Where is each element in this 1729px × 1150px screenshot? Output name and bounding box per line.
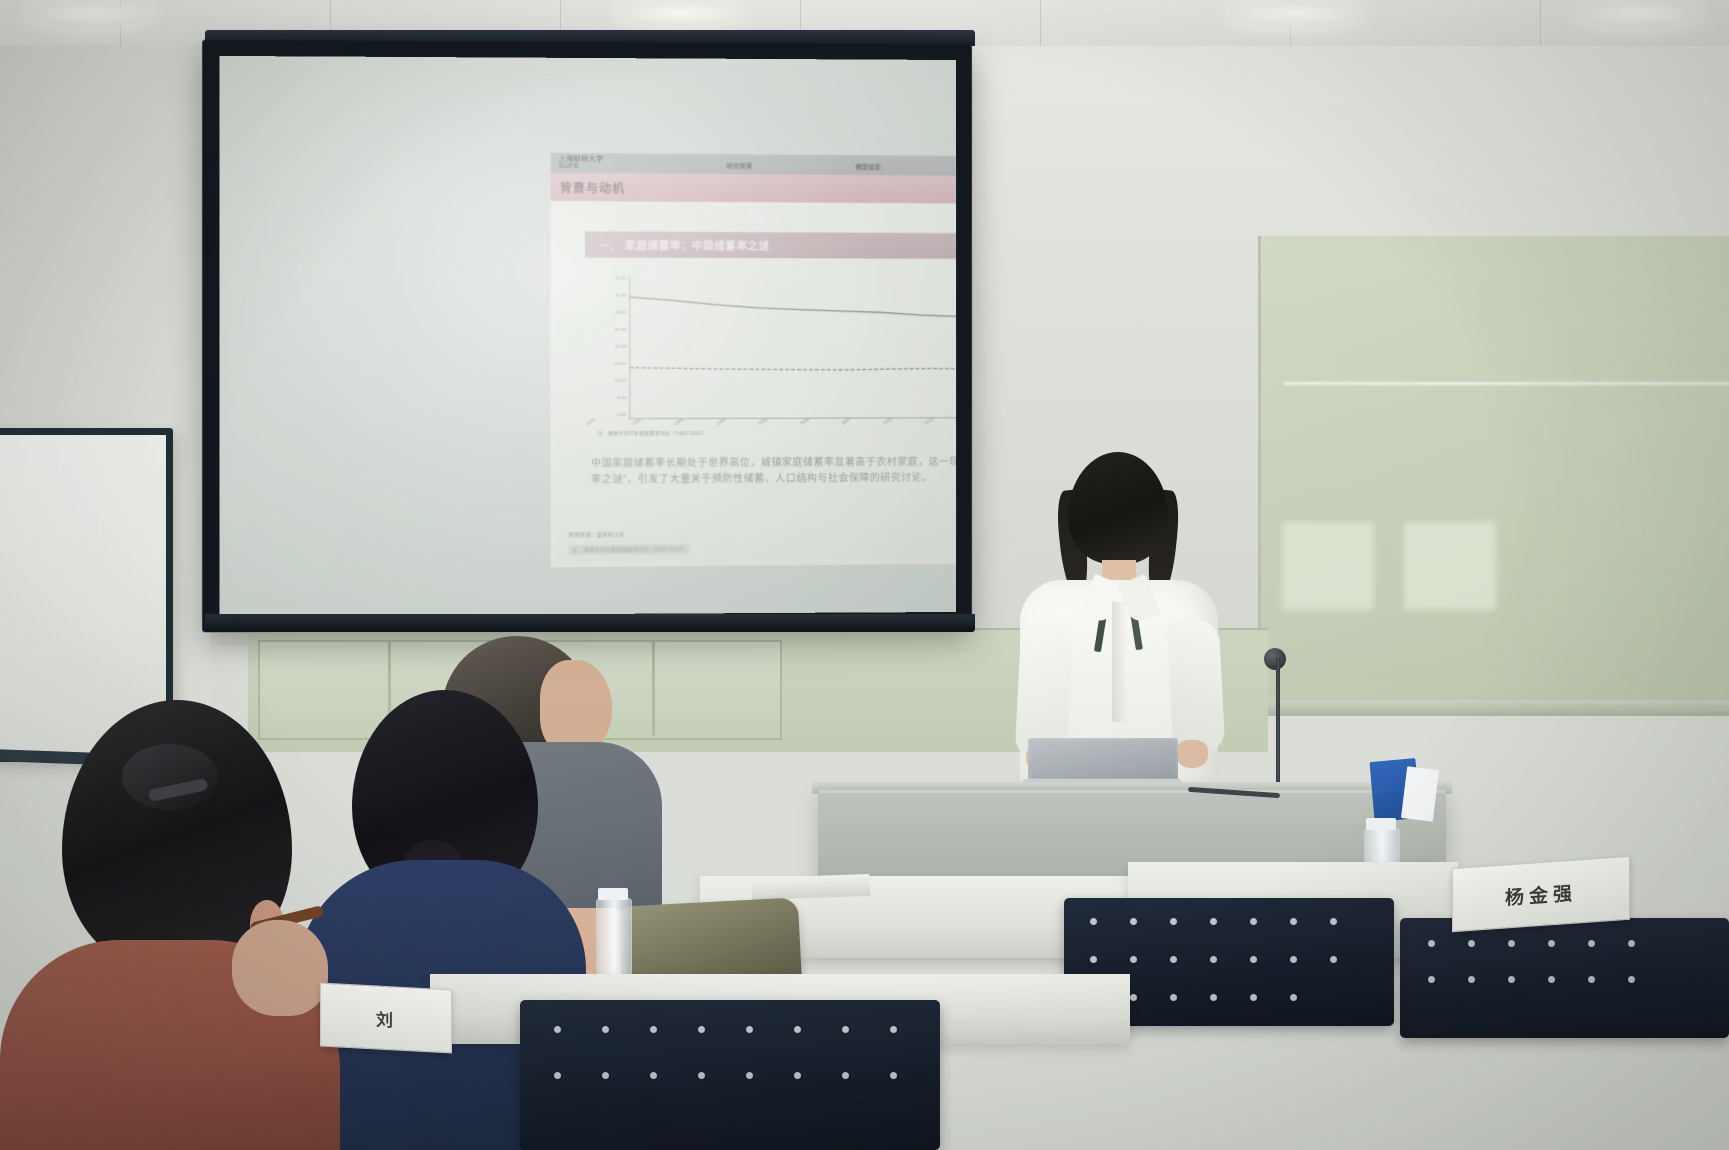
window-mullion bbox=[652, 640, 655, 736]
water-bottle-cap bbox=[1366, 818, 1396, 830]
slide-section-text: 家庭储蓄率：中国储蓄率之谜 bbox=[625, 237, 769, 253]
slide-nav-item-0: 研究背景 bbox=[726, 160, 752, 170]
slide-paragraph: 中国家庭储蓄率长期处于世界高位，城镇家庭储蓄率显著高于农村家庭，这一现象被称为“… bbox=[591, 454, 956, 487]
ceiling-light bbox=[1580, 4, 1700, 26]
presenter-shirt-placket bbox=[1112, 602, 1126, 722]
nameplate-left-text: 刘 bbox=[376, 1005, 396, 1031]
chart-caption: 注：城镇与农村家庭储蓄率对比（1992-2022） bbox=[597, 429, 956, 438]
projection-screen-surface: 上海财经大学 SUFE 研究背景 模型设定 实证结果与分析 背景与动机 一、 家… bbox=[219, 56, 956, 616]
slide-title: 背景与动机 bbox=[560, 178, 626, 196]
microphone-head bbox=[1264, 648, 1286, 670]
presenter-arm-right bbox=[1167, 619, 1226, 754]
audience-member-hair-bun bbox=[122, 744, 218, 810]
screen-bottom-bar bbox=[205, 614, 975, 632]
chart-plot-area bbox=[585, 276, 956, 425]
presenter-hand-right bbox=[1176, 740, 1208, 768]
chair-back bbox=[1400, 918, 1729, 1038]
chalkboard-smudge bbox=[1404, 522, 1496, 610]
slide-section-number: 一、 bbox=[599, 237, 619, 252]
ceiling-light bbox=[620, 4, 740, 26]
book-on-desk bbox=[752, 874, 871, 900]
chalkboard-smudge bbox=[1282, 522, 1374, 610]
ceiling-light bbox=[1230, 4, 1360, 26]
slide-body: 一、 家庭储蓄率：中国储蓄率之谜 40.00 35.00 30.00 25.00… bbox=[557, 203, 957, 561]
ceiling-light bbox=[30, 4, 150, 26]
water-bottle bbox=[596, 898, 632, 978]
slide-footer-note: 注：城镇与农村家庭储蓄率对比（1992-2022） bbox=[569, 544, 690, 555]
slide-title-bar: 背景与动机 bbox=[551, 173, 957, 204]
laptop-lid bbox=[1028, 738, 1178, 784]
nameplate-left: 刘 bbox=[320, 983, 452, 1054]
nameplate-right-text: 杨金强 bbox=[1505, 878, 1577, 910]
paper-sheet bbox=[1401, 766, 1439, 822]
slide-nav-item-1: 模型设定 bbox=[855, 161, 881, 171]
projected-slide: 上海财经大学 SUFE 研究背景 模型设定 实证结果与分析 背景与动机 一、 家… bbox=[551, 153, 957, 568]
nameplate-right: 杨金强 bbox=[1452, 856, 1630, 932]
green-chalkboard bbox=[1258, 236, 1729, 716]
water-bottle-cap bbox=[598, 888, 628, 900]
slide-footer: 数据来源：国家统计局 注：城镇与农村家庭储蓄率对比（1992-2022） bbox=[563, 527, 956, 557]
classroom-photo: 上海财经大学 SUFE 研究背景 模型设定 实证结果与分析 背景与动机 一、 家… bbox=[0, 0, 1729, 1150]
slide-footer-source: 数据来源：国家统计局 bbox=[569, 527, 956, 539]
chalk-rail bbox=[1258, 700, 1729, 716]
audience-member-hand bbox=[232, 920, 328, 1016]
slide-logo-line2: SUFE bbox=[559, 163, 604, 171]
presenter-hair bbox=[1068, 452, 1168, 564]
slide-logo: 上海财经大学 SUFE bbox=[559, 155, 604, 170]
chalkboard-mark bbox=[1284, 382, 1729, 385]
chair-back bbox=[520, 1000, 940, 1150]
slide-section-bar: 一、 家庭储蓄率：中国储蓄率之谜 bbox=[585, 231, 956, 259]
slide-line-chart: 40.00 35.00 30.00 25.00 20.00 15.00 10.0… bbox=[585, 276, 956, 425]
